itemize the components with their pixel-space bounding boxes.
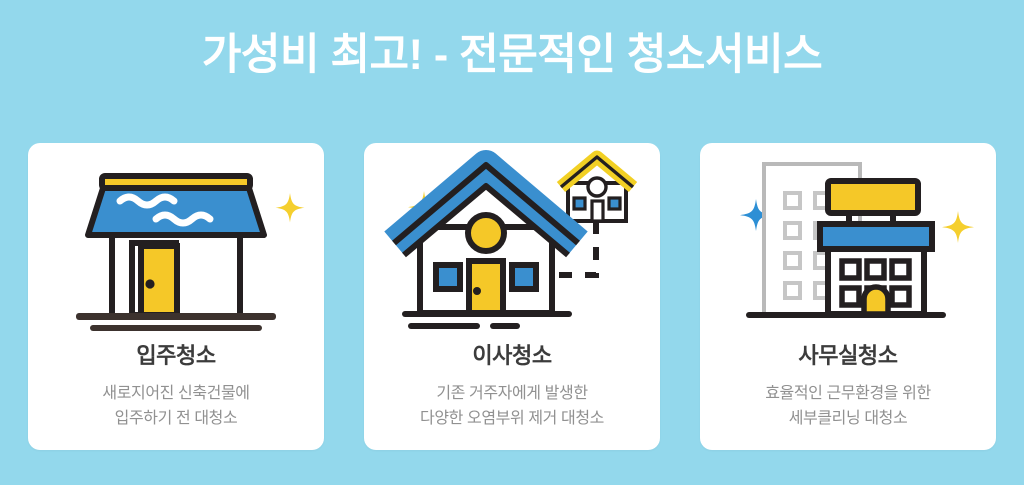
- service-card-moving[interactable]: 이사청소 기존 거주자에게 발생한 다양한 오염부위 제거 대청소: [364, 143, 660, 450]
- card-description-line2: 다양한 오염부위 제거 대청소: [364, 406, 660, 431]
- card-description-line1: 효율적인 근무환경을 위한: [700, 381, 996, 406]
- service-card-list: 입주청소 새로지어진 신축건물에 입주하기 전 대청소: [28, 143, 996, 450]
- card-description: 효율적인 근무환경을 위한 세부클리닝 대청소: [700, 381, 996, 431]
- card-description-line2: 세부클리닝 대청소: [700, 406, 996, 431]
- card-description: 새로지어진 신축건물에 입주하기 전 대청소: [28, 381, 324, 431]
- card-title: 입주청소: [28, 341, 324, 371]
- service-card-office[interactable]: 사무실청소 효율적인 근무환경을 위한 세부클리닝 대청소: [700, 143, 996, 450]
- house-move-icon: [364, 143, 660, 343]
- card-description-line1: 기존 거주자에게 발생한: [364, 381, 660, 406]
- service-card-move-in[interactable]: 입주청소 새로지어진 신축건물에 입주하기 전 대청소: [28, 143, 324, 450]
- card-description-line1: 새로지어진 신축건물에: [28, 381, 324, 406]
- promo-banner: 가성비 최고! - 전문적인 청소서비스: [0, 0, 1024, 485]
- card-description: 기존 거주자에게 발생한 다양한 오염부위 제거 대청소: [364, 381, 660, 431]
- office-building-icon: [700, 143, 996, 343]
- card-title: 이사청소: [364, 341, 660, 371]
- storefront-icon: [28, 143, 324, 343]
- page-title: 가성비 최고! - 전문적인 청소서비스: [0, 27, 1024, 83]
- card-title: 사무실청소: [700, 341, 996, 371]
- card-description-line2: 입주하기 전 대청소: [28, 406, 324, 431]
